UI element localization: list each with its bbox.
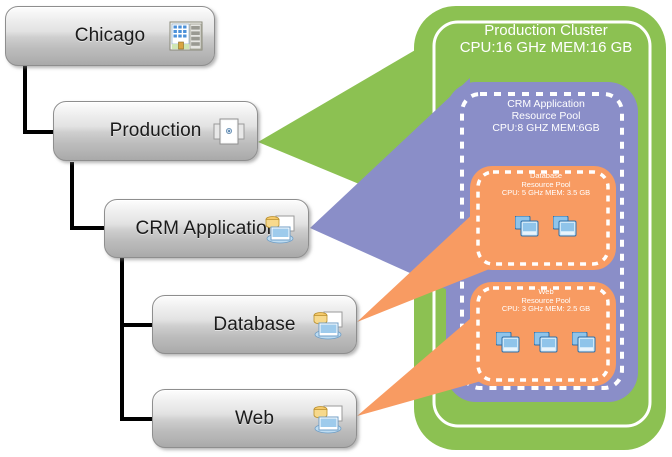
resource-pool-icon	[311, 403, 345, 435]
virtual-machine-icon[interactable]	[496, 332, 520, 354]
tree-node-crm-application[interactable]: CRM Application	[104, 199, 309, 258]
host-icon	[212, 115, 246, 147]
tree-node-chicago-label: Chicago	[75, 25, 145, 47]
virtual-machine-icon[interactable]	[515, 216, 539, 238]
tree-node-web[interactable]: Web	[152, 389, 357, 448]
diagram-canvas: Production Cluster CPU:16 GHz MEM:16 GB …	[0, 0, 672, 457]
virtual-machine-icon[interactable]	[553, 216, 577, 238]
virtual-machine-icon[interactable]	[572, 332, 596, 354]
connector-crm-web	[122, 325, 152, 419]
resource-pool-icon	[263, 213, 297, 245]
connector-crm-database	[122, 258, 152, 325]
tree-node-production[interactable]: Production	[53, 101, 258, 161]
connector-chicago-production	[25, 66, 55, 132]
web-pool-vm-list	[478, 332, 614, 354]
datacenter-icon	[169, 20, 203, 52]
database-pool-vm-list	[478, 216, 614, 238]
tree-node-production-label: Production	[110, 120, 202, 142]
tree-node-web-label: Web	[235, 408, 274, 430]
tree-node-database-label: Database	[213, 314, 295, 336]
virtual-machine-icon[interactable]	[534, 332, 558, 354]
tree-node-chicago[interactable]: Chicago	[5, 6, 215, 66]
tree-node-crm-application-label: CRM Application	[136, 218, 278, 240]
resource-pool-icon	[311, 309, 345, 341]
tree-node-database[interactable]: Database	[152, 295, 357, 354]
connector-production-crm	[72, 162, 104, 228]
